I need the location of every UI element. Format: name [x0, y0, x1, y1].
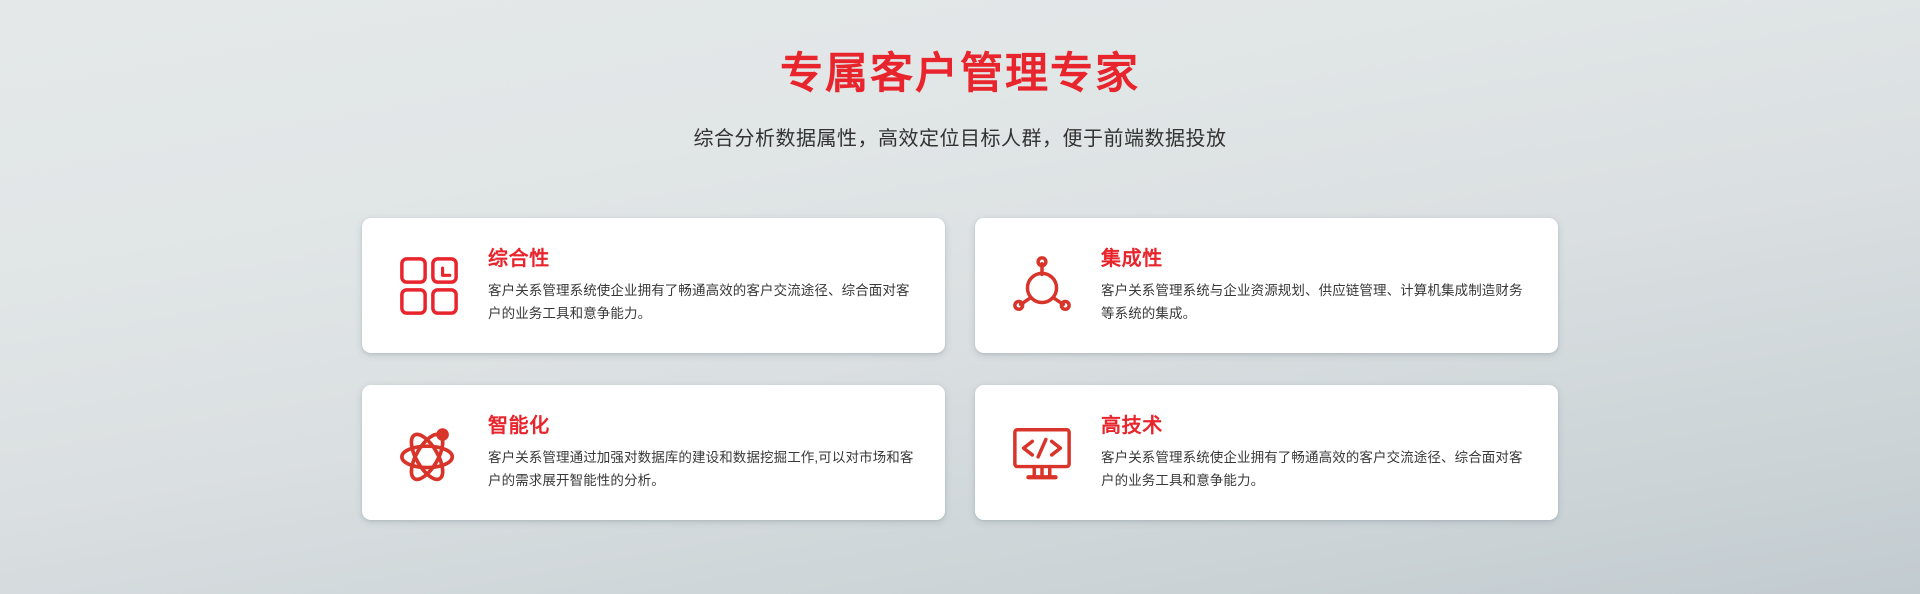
page-title: 专属客户管理专家 [0, 48, 1920, 102]
grid-squares-icon [392, 249, 466, 323]
feature-card-body: 集成性 客户关系管理系统与企业资源规划、供应链管理、计算机集成制造财务等系统的集… [1101, 246, 1532, 325]
feature-card-body: 综合性 客户关系管理系统使企业拥有了畅通高效的客户交流途径、综合面对客户的业务工… [488, 246, 919, 325]
feature-card-technology[interactable]: 高技术 客户关系管理系统使企业拥有了畅通高效的客户交流途径、综合面对客户的业务工… [975, 385, 1558, 520]
feature-card-description: 客户关系管理通过加强对数据库的建设和数据挖掘工作,可以对市场和客户的需求展开智能… [488, 446, 919, 492]
network-nodes-icon [1005, 249, 1079, 323]
feature-card-body: 智能化 客户关系管理通过加强对数据库的建设和数据挖掘工作,可以对市场和客户的需求… [488, 413, 919, 492]
page-subtitle: 综合分析数据属性，高效定位目标人群，便于前端数据投放 [0, 125, 1920, 153]
section-header: 专属客户管理专家 综合分析数据属性，高效定位目标人群，便于前端数据投放 [0, 48, 1920, 153]
feature-card-comprehensive[interactable]: 综合性 客户关系管理系统使企业拥有了畅通高效的客户交流途径、综合面对客户的业务工… [362, 218, 945, 353]
feature-card-title: 综合性 [488, 248, 919, 270]
feature-card-description: 客户关系管理系统使企业拥有了畅通高效的客户交流途径、综合面对客户的业务工具和意争… [1101, 446, 1532, 492]
feature-card-integration[interactable]: 集成性 客户关系管理系统与企业资源规划、供应链管理、计算机集成制造财务等系统的集… [975, 218, 1558, 353]
feature-card-intelligent[interactable]: 智能化 客户关系管理通过加强对数据库的建设和数据挖掘工作,可以对市场和客户的需求… [362, 385, 945, 520]
feature-card-title: 集成性 [1101, 248, 1532, 270]
atom-icon [392, 416, 466, 490]
feature-card-description: 客户关系管理系统与企业资源规划、供应链管理、计算机集成制造财务等系统的集成。 [1101, 279, 1532, 325]
feature-card-body: 高技术 客户关系管理系统使企业拥有了畅通高效的客户交流途径、综合面对客户的业务工… [1101, 413, 1532, 492]
feature-card-description: 客户关系管理系统使企业拥有了畅通高效的客户交流途径、综合面对客户的业务工具和意争… [488, 279, 919, 325]
code-monitor-icon [1005, 416, 1079, 490]
feature-card-title: 高技术 [1101, 415, 1532, 437]
feature-cards-grid: 综合性 客户关系管理系统使企业拥有了畅通高效的客户交流途径、综合面对客户的业务工… [362, 218, 1558, 520]
feature-section-page: 专属客户管理专家 综合分析数据属性，高效定位目标人群，便于前端数据投放 综合性 … [0, 0, 1920, 594]
feature-card-title: 智能化 [488, 415, 919, 437]
